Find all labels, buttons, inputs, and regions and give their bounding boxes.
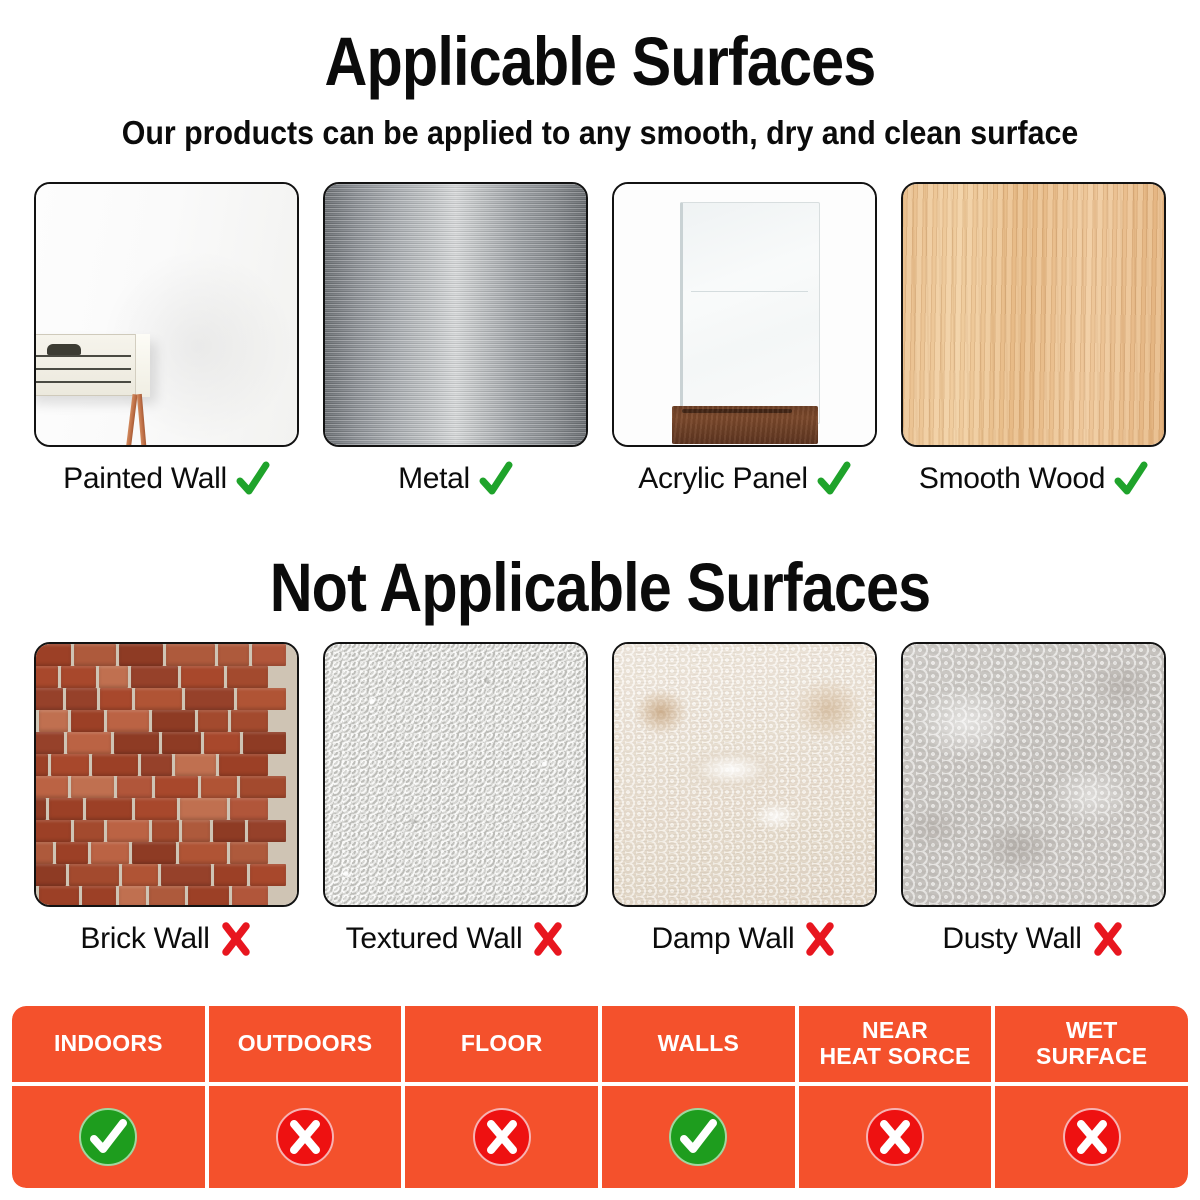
brick xyxy=(240,776,286,798)
brick-course xyxy=(34,666,271,688)
page-title-applicable: Applicable Surfaces xyxy=(84,27,1116,96)
brick xyxy=(117,776,152,798)
cross-icon xyxy=(219,920,253,958)
usage-status-near-heat-source[interactable] xyxy=(799,1086,992,1188)
brick xyxy=(74,644,116,666)
check-icon xyxy=(1114,460,1148,498)
usage-status-outdoors[interactable] xyxy=(209,1086,402,1188)
brick-course xyxy=(34,798,271,820)
drawer-line xyxy=(34,355,131,357)
drawer-line xyxy=(34,368,131,370)
surface-label: Painted Wall xyxy=(63,462,227,496)
damp-wall-photo xyxy=(614,644,875,905)
usage-header-label: FLOOR xyxy=(461,1031,543,1057)
brick xyxy=(188,886,229,907)
usage-header-label: WALLS xyxy=(658,1031,740,1057)
brick xyxy=(34,732,64,754)
brick xyxy=(131,666,178,688)
brick xyxy=(49,798,83,820)
brick xyxy=(56,842,89,864)
surface-card-smooth-wood[interactable]: Smooth Wood xyxy=(901,182,1166,501)
brick xyxy=(92,754,138,776)
brick-course xyxy=(34,644,289,666)
brick xyxy=(99,666,128,688)
brick xyxy=(237,688,286,710)
surface-label: Textured Wall xyxy=(346,922,523,956)
table-leg-shape xyxy=(137,394,148,447)
brick xyxy=(201,776,237,798)
brick-course xyxy=(34,710,271,732)
brick xyxy=(34,820,71,842)
surface-caption: Painted Wall xyxy=(34,457,299,501)
cross-icon xyxy=(803,920,837,958)
surface-caption: Acrylic Panel xyxy=(612,457,877,501)
brick xyxy=(34,886,36,907)
brick-course xyxy=(34,776,289,798)
cross-circle-icon xyxy=(471,1106,533,1168)
brick xyxy=(231,710,268,732)
usage-header-indoors[interactable]: INDOORS xyxy=(12,1006,205,1082)
infographic-page: Applicable Surfaces Our products can be … xyxy=(0,0,1200,1200)
surface-caption: Brick Wall xyxy=(34,917,299,961)
acrylic-sheet-shape xyxy=(680,202,820,424)
brick xyxy=(82,886,116,907)
smooth-wood-thumbnail xyxy=(901,182,1166,447)
surface-card-damp-wall[interactable]: Damp Wall xyxy=(612,642,877,961)
brick xyxy=(155,776,198,798)
usage-header-floor[interactable]: FLOOR xyxy=(405,1006,598,1082)
check-circle-icon xyxy=(667,1106,729,1168)
console-table-shape xyxy=(34,334,150,396)
surface-label: Brick Wall xyxy=(80,922,209,956)
brick xyxy=(34,710,36,732)
usage-header-label: INDOORS xyxy=(54,1031,163,1057)
brick xyxy=(34,842,53,864)
applicable-surfaces-row: Painted Wall Metal xyxy=(0,182,1200,501)
surface-label: Acrylic Panel xyxy=(638,462,808,496)
brick xyxy=(119,886,146,907)
usage-matrix-header-row: INDOORS OUTDOORS FLOOR WALLS NEAR HEAT S… xyxy=(12,1006,1188,1082)
brick xyxy=(204,732,239,754)
brick xyxy=(214,864,247,886)
brick xyxy=(152,820,179,842)
usage-header-outdoors[interactable]: OUTDOORS xyxy=(209,1006,402,1082)
usage-header-walls[interactable]: WALLS xyxy=(602,1006,795,1082)
check-icon xyxy=(236,460,270,498)
usage-status-indoors[interactable] xyxy=(12,1086,205,1188)
metal-thumbnail xyxy=(323,182,588,447)
brick-course xyxy=(34,820,289,842)
wooden-base-shape xyxy=(672,406,818,444)
cross-circle-icon xyxy=(274,1106,336,1168)
brick xyxy=(61,666,96,688)
surface-card-dusty-wall[interactable]: Dusty Wall xyxy=(901,642,1166,961)
brick xyxy=(132,842,176,864)
brick xyxy=(181,666,224,688)
brick-course xyxy=(34,732,289,754)
usage-header-wet-surface[interactable]: WET SURFACE xyxy=(995,1006,1188,1082)
not-applicable-surfaces-row: Brick Wall Textured Wall xyxy=(0,642,1200,961)
cross-circle-icon xyxy=(1061,1106,1123,1168)
page-subtitle: Our products can be applied to any smoot… xyxy=(48,113,1152,153)
brick xyxy=(252,644,286,666)
brick xyxy=(34,864,66,886)
brick xyxy=(91,842,129,864)
surface-caption: Damp Wall xyxy=(612,917,877,961)
brick xyxy=(166,644,215,666)
brick xyxy=(135,688,181,710)
brick xyxy=(179,842,226,864)
painted-wall-thumbnail xyxy=(34,182,299,447)
applicable-subtitle-wrap: Our products can be applied to any smoot… xyxy=(0,113,1200,153)
brick xyxy=(39,710,68,732)
usage-status-walls[interactable] xyxy=(602,1086,795,1188)
brick xyxy=(135,798,176,820)
usage-header-label: NEAR HEAT SORCE xyxy=(819,1018,970,1070)
damp-wall-thumbnail xyxy=(612,642,877,907)
brick xyxy=(51,754,89,776)
acrylic-panel-thumbnail xyxy=(612,182,877,447)
brick xyxy=(198,710,228,732)
brick xyxy=(74,820,104,842)
check-icon xyxy=(479,460,513,498)
smooth-wood-photo xyxy=(903,184,1164,445)
drawer-handle-shape xyxy=(47,344,81,355)
brick xyxy=(162,732,201,754)
surface-card-painted-wall[interactable]: Painted Wall xyxy=(34,182,299,501)
surface-card-metal[interactable]: Metal xyxy=(323,182,588,501)
page-title-not-applicable: Not Applicable Surfaces xyxy=(84,553,1116,622)
brick xyxy=(185,688,235,710)
textured-wall-thumbnail xyxy=(323,642,588,907)
brick xyxy=(107,710,149,732)
brick xyxy=(182,820,210,842)
brick xyxy=(248,820,286,842)
brick xyxy=(34,688,63,710)
brick xyxy=(243,732,286,754)
surface-caption: Textured Wall xyxy=(323,917,588,961)
surface-label: Dusty Wall xyxy=(942,922,1081,956)
brick-wall-photo xyxy=(36,644,297,905)
usage-matrix-status-row xyxy=(12,1086,1188,1188)
drawer-line xyxy=(34,381,131,383)
brick xyxy=(230,842,268,864)
brushed-metal-photo xyxy=(325,184,586,445)
brick xyxy=(122,864,158,886)
brick xyxy=(100,688,133,710)
brick xyxy=(175,754,216,776)
brick-course xyxy=(34,864,289,886)
brick xyxy=(71,710,104,732)
surface-card-textured-wall[interactable]: Textured Wall xyxy=(323,642,588,961)
brick xyxy=(227,666,268,688)
brick xyxy=(250,864,286,886)
brick xyxy=(69,864,118,886)
usage-status-floor[interactable] xyxy=(405,1086,598,1188)
usage-status-wet-surface[interactable] xyxy=(995,1086,1188,1188)
surface-caption: Smooth Wood xyxy=(901,457,1166,501)
surface-label: Damp Wall xyxy=(652,922,795,956)
acrylic-panel-photo xyxy=(614,184,875,445)
brick-course xyxy=(34,886,271,907)
brick xyxy=(34,776,68,798)
brick xyxy=(34,798,46,820)
applicable-title-wrap: Applicable Surfaces xyxy=(0,27,1200,96)
surface-card-brick-wall[interactable]: Brick Wall xyxy=(34,642,299,961)
brick xyxy=(141,754,172,776)
brick xyxy=(34,754,48,776)
brick-course xyxy=(34,688,289,710)
cross-icon xyxy=(1091,920,1125,958)
brick xyxy=(34,666,58,688)
check-circle-icon xyxy=(77,1106,139,1168)
brick xyxy=(34,644,71,666)
painted-wall-photo xyxy=(36,184,297,445)
surface-card-acrylic-panel[interactable]: Acrylic Panel xyxy=(612,182,877,501)
textured-wall-photo xyxy=(325,644,586,905)
brick xyxy=(213,820,245,842)
brick xyxy=(230,798,268,820)
brick-course xyxy=(34,754,271,776)
brick xyxy=(107,820,149,842)
table-leg-shape xyxy=(124,394,138,447)
dusty-wall-photo xyxy=(903,644,1164,905)
brick xyxy=(114,732,160,754)
dusty-wall-thumbnail xyxy=(901,642,1166,907)
surface-label: Smooth Wood xyxy=(919,462,1105,496)
surface-caption: Metal xyxy=(323,457,588,501)
brick xyxy=(86,798,132,820)
brick xyxy=(149,886,185,907)
usage-header-label: WET SURFACE xyxy=(1036,1018,1147,1070)
brick xyxy=(71,776,114,798)
brick-wall-thumbnail xyxy=(34,642,299,907)
brick xyxy=(66,688,97,710)
surface-label: Metal xyxy=(398,462,470,496)
brick xyxy=(152,710,195,732)
cross-circle-icon xyxy=(864,1106,926,1168)
usage-header-label: OUTDOORS xyxy=(238,1031,373,1057)
brick xyxy=(219,754,268,776)
brick-course xyxy=(34,842,271,864)
cross-icon xyxy=(531,920,565,958)
brick xyxy=(39,886,78,907)
not-applicable-title-wrap: Not Applicable Surfaces xyxy=(0,553,1200,622)
check-icon xyxy=(817,460,851,498)
brick xyxy=(67,732,110,754)
usage-header-near-heat-source[interactable]: NEAR HEAT SORCE xyxy=(799,1006,992,1082)
brick xyxy=(180,798,227,820)
brick xyxy=(232,886,268,907)
brick xyxy=(119,644,164,666)
surface-caption: Dusty Wall xyxy=(901,917,1166,961)
brick xyxy=(161,864,210,886)
brick xyxy=(218,644,249,666)
usage-matrix: INDOORS OUTDOORS FLOOR WALLS NEAR HEAT S… xyxy=(12,1006,1188,1188)
